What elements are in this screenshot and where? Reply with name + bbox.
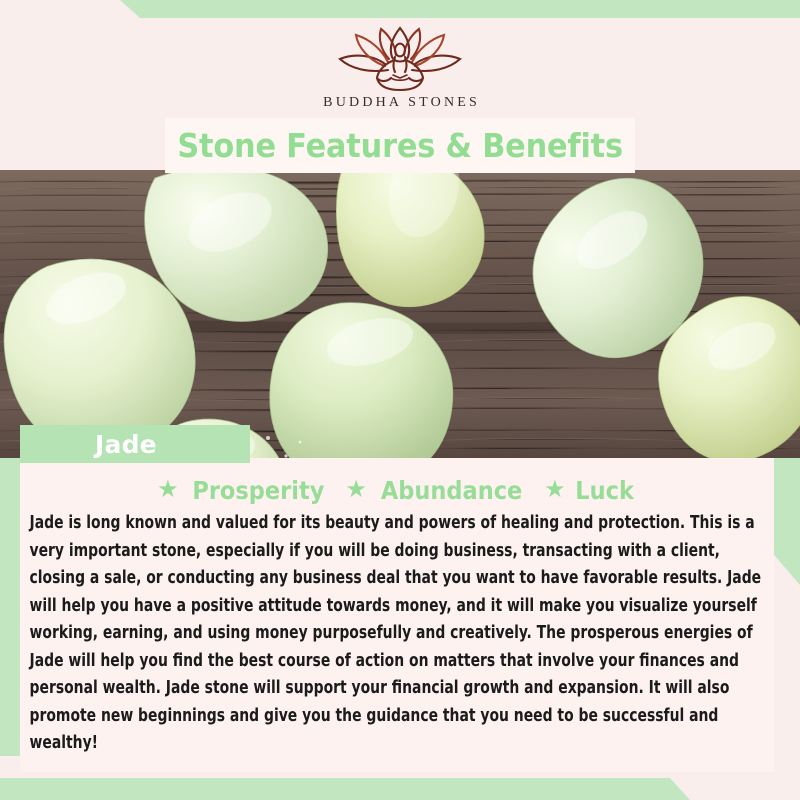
keyword-label: Luck	[575, 476, 634, 505]
stone-name-label: Jade	[95, 430, 157, 459]
top-accent-band	[0, 0, 800, 18]
star-icon: ★	[157, 478, 179, 502]
keyword-list: ★ Prosperity ★ Abundance ★ Luck	[26, 474, 768, 506]
brand-logo: BUDDHA STONES	[0, 18, 800, 118]
keyword-item-prosperity: ★ Prosperity	[157, 476, 331, 505]
stone-photo-image	[0, 170, 800, 458]
keyword-item-abundance: ★ Abundance	[345, 476, 530, 505]
bottom-accent-band	[0, 778, 800, 800]
stone-name-tab: Jade	[20, 425, 250, 463]
brand-wordmark: BUDDHA STONES	[320, 95, 480, 111]
star-icon: ★	[345, 478, 367, 502]
keyword-label: Abundance	[381, 476, 522, 505]
lotus-meditation-icon	[325, 26, 475, 92]
content-panel: ★ Prosperity ★ Abundance ★ Luck Jade is …	[20, 458, 774, 772]
star-icon: ★	[544, 478, 566, 502]
stone-description: Jade is long known and valued for its be…	[26, 510, 776, 758]
page-title: Stone Features & Benefits	[177, 126, 623, 165]
stone-photo	[0, 170, 800, 458]
title-banner: Stone Features & Benefits	[165, 118, 635, 173]
keyword-label: Prosperity	[192, 476, 324, 505]
keyword-item-luck: ★ Luck	[544, 476, 637, 505]
stone-features-card: BUDDHA STONES Stone Features & Benefits	[0, 0, 800, 800]
